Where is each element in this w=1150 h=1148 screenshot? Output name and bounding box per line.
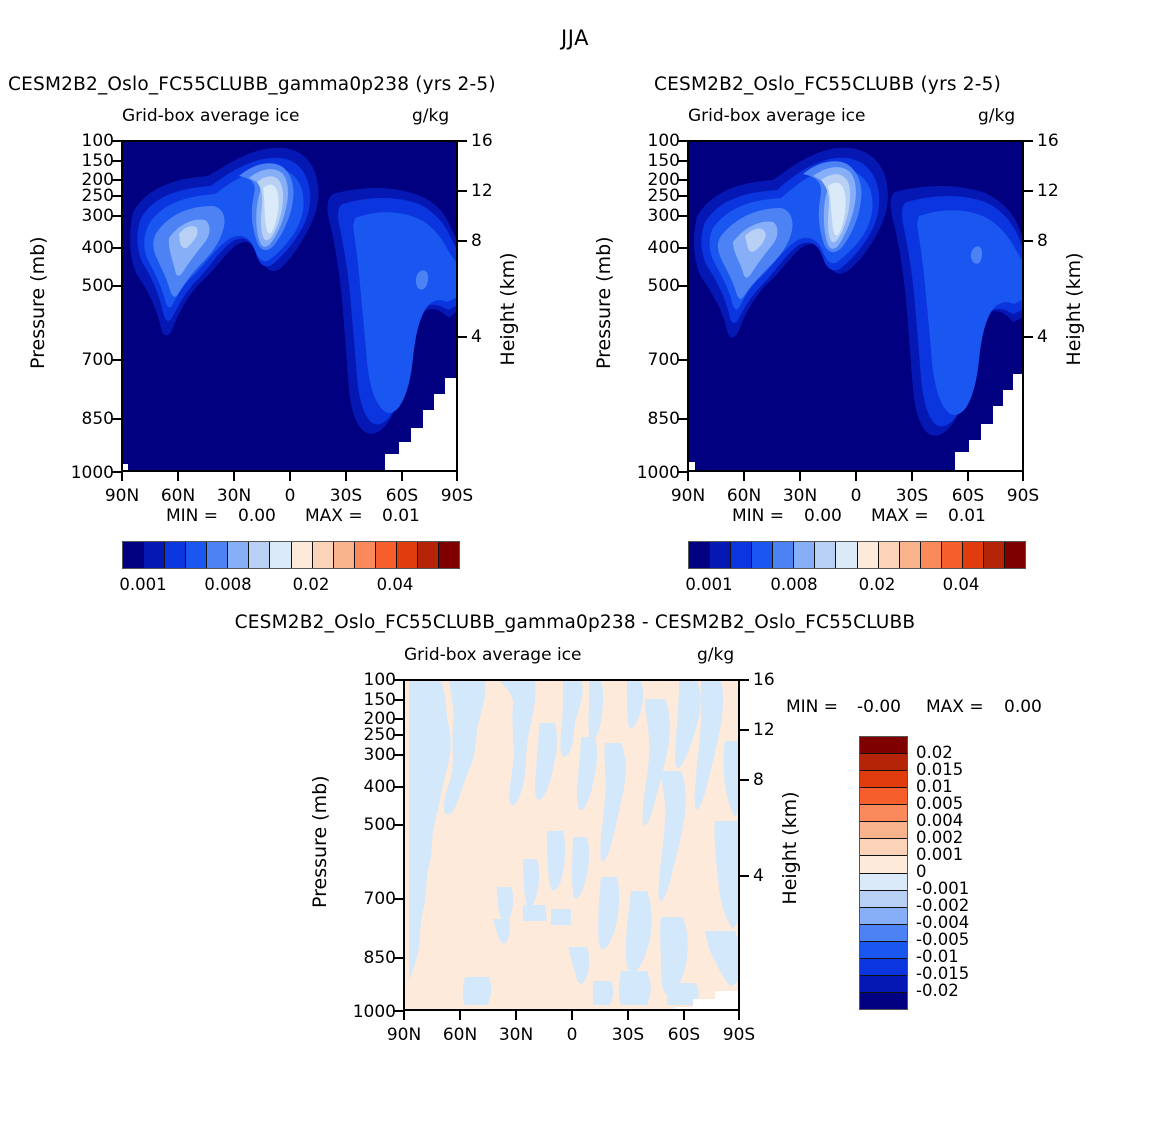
colorbar-swatch-5 [228, 542, 249, 568]
colorbar-swatch-10 [334, 542, 355, 568]
colorbar-diff-swatch-9 [860, 891, 907, 908]
colorbar-swatch-15 [439, 542, 459, 568]
xtick-diff-30S: 30S [597, 1025, 659, 1045]
xtickmark [683, 1011, 685, 1020]
cbar-left-label-2: 0.02 [283, 575, 339, 594]
xtick-diff-90S: 90S [708, 1025, 770, 1045]
xtickmark [515, 1011, 517, 1020]
y2tick-diff-8: 8 [753, 770, 764, 790]
ytick-right-250: 250 [624, 186, 680, 206]
y2tickmark [740, 875, 749, 877]
xtick-right-60S: 60S [937, 486, 999, 506]
colorbar-swatch-9 [313, 542, 334, 568]
colorbar-swatch-2 [165, 542, 186, 568]
ytickmark [394, 1010, 403, 1012]
ytick-left-300: 300 [58, 206, 114, 226]
ytick-diff-250: 250 [340, 725, 396, 745]
contour-plot-left[interactable] [121, 140, 458, 472]
ytickmark [394, 898, 403, 900]
xtick-right-60N: 60N [713, 486, 775, 506]
ytick-left-100: 100 [58, 131, 114, 151]
ytickmark [394, 718, 403, 720]
cbar-left-label-0: 0.001 [111, 575, 175, 594]
xtickmark [627, 1011, 629, 1020]
y2tickmark [1024, 336, 1033, 338]
colorbar-diff-swatch-10 [860, 908, 907, 925]
xtickmark [1022, 472, 1024, 481]
ytick-diff-500: 500 [340, 815, 396, 835]
ytickmark [678, 285, 687, 287]
min-label-right: MIN = [732, 506, 784, 526]
xtick-left-30S: 30S [315, 486, 377, 506]
yaxis-title-right: Pressure (mb) [593, 249, 615, 369]
ytickmark [394, 786, 403, 788]
colorbar-swatch-11 [921, 542, 942, 568]
colorbar-swatch-0 [689, 542, 710, 568]
ytickmark [112, 471, 121, 473]
ytickmark [678, 195, 687, 197]
max-value-diff: 0.00 [1004, 697, 1042, 717]
y2tickmark [1024, 190, 1033, 192]
ytickmark [394, 824, 403, 826]
ytick-left-150: 150 [58, 151, 114, 171]
y2tickmark [740, 779, 749, 781]
xtick-right-90S: 90S [992, 486, 1054, 506]
ytickmark [678, 179, 687, 181]
min-value-right: 0.00 [804, 506, 842, 526]
xtick-right-30N: 30N [769, 486, 831, 506]
panel-title-right: CESM2B2_Oslo_FC55CLUBB (yrs 2-5) [654, 74, 1001, 95]
xtickmark [687, 472, 689, 481]
y2tick-right-8: 8 [1037, 231, 1048, 251]
xtick-left-0: 0 [259, 486, 321, 506]
colorbar-diff-swatch-5 [860, 822, 907, 839]
colorbar-swatch-11 [355, 542, 376, 568]
xtick-right-90N: 90N [657, 486, 719, 506]
y2axis-title-diff: Height (km) [779, 788, 801, 908]
xtick-left-90S: 90S [426, 486, 488, 506]
colorbar-swatch-10 [900, 542, 921, 568]
colorbar-diff-swatch-3 [860, 788, 907, 805]
colorbar-diff-swatch-6 [860, 839, 907, 856]
ytick-left-850: 850 [58, 409, 114, 429]
colorbar-swatch-9 [879, 542, 900, 568]
colorbar-diff-swatch-12 [860, 942, 907, 959]
y2tick-diff-16: 16 [753, 670, 775, 690]
cbar-left-label-1: 0.008 [196, 575, 260, 594]
colorbar-swatch-6 [815, 542, 836, 568]
ytickmark [112, 418, 121, 420]
ytick-right-300: 300 [624, 206, 680, 226]
colorbar-diff-swatch-8 [860, 874, 907, 891]
yaxis-title-left: Pressure (mb) [27, 249, 49, 369]
ytick-right-1000: 1000 [614, 463, 680, 483]
ytickmark [678, 418, 687, 420]
xtickmark [345, 472, 347, 481]
xtick-diff-60S: 60S [653, 1025, 715, 1045]
ytickmark [394, 754, 403, 756]
ytick-left-1000: 1000 [48, 463, 114, 483]
xtick-diff-30N: 30N [485, 1025, 547, 1045]
colorbar-swatch-4 [207, 542, 228, 568]
max-label-right: MAX = [871, 506, 929, 526]
xtickmark [456, 472, 458, 481]
xtickmark [401, 472, 403, 481]
ytick-right-700: 700 [624, 350, 680, 370]
min-label-left: MIN = [166, 506, 218, 526]
colorbar-swatch-14 [418, 542, 439, 568]
xtickmark [799, 472, 801, 481]
colorbar-swatch-14 [984, 542, 1005, 568]
ytickmark [394, 699, 403, 701]
ytick-left-250: 250 [58, 186, 114, 206]
colorbar-swatch-15 [1005, 542, 1025, 568]
ytick-left-400: 400 [58, 238, 114, 258]
ytickmark [112, 247, 121, 249]
ytick-diff-850: 850 [340, 948, 396, 968]
colorbar-diff[interactable] [859, 736, 908, 1010]
xtickmark [743, 472, 745, 481]
colorbar-diff-swatch-11 [860, 925, 907, 942]
colorbar-diff-swatch-1 [860, 754, 907, 771]
ytick-diff-100: 100 [340, 670, 396, 690]
xtickmark [403, 1011, 405, 1020]
max-label-left: MAX = [305, 506, 363, 526]
y2tick-right-12: 12 [1037, 181, 1059, 201]
y2tick-diff-4: 4 [753, 866, 764, 886]
ytick-left-500: 500 [58, 276, 114, 296]
y2tick-left-4: 4 [471, 327, 482, 347]
colorbar-diff-swatch-7 [860, 856, 907, 873]
colorbar-left[interactable] [122, 541, 460, 569]
ytick-diff-150: 150 [340, 690, 396, 710]
xtickmark [911, 472, 913, 481]
colorbar-swatch-13 [963, 542, 984, 568]
colorbar-diff-label-14: -0.02 [916, 981, 959, 1000]
colorbar-swatch-12 [942, 542, 963, 568]
units-label-left: g/kg [412, 106, 449, 126]
max-label-diff: MAX = [926, 697, 984, 717]
ytick-right-500: 500 [624, 276, 680, 296]
xtickmark [233, 472, 235, 481]
field-label-right: Grid-box average ice [688, 106, 865, 126]
yaxis-title-diff: Pressure (mb) [309, 788, 331, 908]
ytickmark [112, 140, 121, 142]
ytick-left-700: 700 [58, 350, 114, 370]
ytickmark [678, 247, 687, 249]
season-title: JJA [0, 26, 1150, 50]
colorbar-diff-swatch-2 [860, 771, 907, 788]
colorbar-swatch-2 [731, 542, 752, 568]
colorbar-swatch-4 [773, 542, 794, 568]
y2tickmark [740, 729, 749, 731]
colorbar-swatch-8 [858, 542, 879, 568]
ytickmark [678, 215, 687, 217]
max-value-right: 0.01 [948, 506, 986, 526]
cbar-right-label-2: 0.02 [849, 575, 905, 594]
xtick-diff-0: 0 [541, 1025, 603, 1045]
panel-title-diff: CESM2B2_Oslo_FC55CLUBB_gamma0p238 - CESM… [0, 612, 1150, 633]
y2tickmark [458, 240, 467, 242]
xtickmark [121, 472, 123, 481]
y2tickmark [1024, 240, 1033, 242]
ytickmark [112, 285, 121, 287]
units-label-diff: g/kg [697, 645, 734, 665]
cbar-right-label-3: 0.04 [933, 575, 989, 594]
ytick-diff-300: 300 [340, 745, 396, 765]
y2tickmark [740, 679, 749, 681]
min-value-left: 0.00 [238, 506, 276, 526]
xtickmark [571, 1011, 573, 1020]
xtickmark [855, 472, 857, 481]
panel-title-left: CESM2B2_Oslo_FC55CLUBB_gamma0p238 (yrs 2… [8, 74, 496, 95]
colorbar-diff-swatch-15 [860, 993, 907, 1009]
xtick-left-60N: 60N [147, 486, 209, 506]
y2tickmark [458, 336, 467, 338]
colorbar-swatch-3 [186, 542, 207, 568]
ytickmark [678, 471, 687, 473]
colorbar-swatch-1 [710, 542, 731, 568]
colorbar-diff-swatch-0 [860, 737, 907, 754]
y2tick-right-16: 16 [1037, 131, 1059, 151]
colorbar-diff-swatch-13 [860, 959, 907, 976]
ytickmark [112, 195, 121, 197]
ytick-right-850: 850 [624, 409, 680, 429]
colorbar-diff-swatch-4 [860, 805, 907, 822]
colorbar-swatch-3 [752, 542, 773, 568]
y2tick-left-12: 12 [471, 181, 493, 201]
y2tick-diff-12: 12 [753, 720, 775, 740]
colorbar-swatch-7 [270, 542, 291, 568]
y2tick-right-4: 4 [1037, 327, 1048, 347]
contour-plot-right[interactable] [687, 140, 1024, 472]
field-label-left: Grid-box average ice [122, 106, 299, 126]
units-label-right: g/kg [978, 106, 1015, 126]
xtickmark [459, 1011, 461, 1020]
colorbar-swatch-13 [397, 542, 418, 568]
y2axis-title-left: Height (km) [497, 249, 519, 369]
xtickmark [738, 1011, 740, 1020]
y2tickmark [458, 140, 467, 142]
ytick-right-150: 150 [624, 151, 680, 171]
ytick-right-400: 400 [624, 238, 680, 258]
max-value-left: 0.01 [382, 506, 420, 526]
ytickmark [678, 359, 687, 361]
xtick-left-90N: 90N [91, 486, 153, 506]
contour-plot-diff[interactable] [403, 679, 740, 1011]
xtick-right-0: 0 [825, 486, 887, 506]
xtickmark [177, 472, 179, 481]
ytick-diff-700: 700 [340, 889, 396, 909]
xtick-diff-90N: 90N [373, 1025, 435, 1045]
ytick-right-100: 100 [624, 131, 680, 151]
ytickmark [112, 160, 121, 162]
colorbar-swatch-12 [376, 542, 397, 568]
ytickmark [394, 679, 403, 681]
colorbar-diff-swatch-14 [860, 976, 907, 993]
colorbar-swatch-8 [292, 542, 313, 568]
y2tick-left-8: 8 [471, 231, 482, 251]
min-value-diff: -0.00 [857, 697, 901, 717]
ytickmark [678, 160, 687, 162]
colorbar-swatch-7 [836, 542, 857, 568]
xtick-diff-60N: 60N [429, 1025, 491, 1045]
ytick-diff-1000: 1000 [330, 1002, 396, 1022]
y2tick-left-16: 16 [471, 131, 493, 151]
ytickmark [112, 179, 121, 181]
min-label-diff: MIN = [786, 697, 838, 717]
y2axis-title-right: Height (km) [1063, 249, 1085, 369]
xtick-right-30S: 30S [881, 486, 943, 506]
ytickmark [112, 215, 121, 217]
cbar-left-label-3: 0.04 [367, 575, 423, 594]
xtickmark [967, 472, 969, 481]
ytickmark [678, 140, 687, 142]
y2tickmark [1024, 140, 1033, 142]
colorbar-swatch-0 [123, 542, 144, 568]
ytickmark [394, 957, 403, 959]
colorbar-swatch-1 [144, 542, 165, 568]
ytickmark [112, 359, 121, 361]
cbar-right-label-0: 0.001 [677, 575, 741, 594]
cbar-right-label-1: 0.008 [762, 575, 826, 594]
ytickmark [394, 734, 403, 736]
ytick-diff-400: 400 [340, 777, 396, 797]
colorbar-swatch-6 [249, 542, 270, 568]
colorbar-swatch-5 [794, 542, 815, 568]
xtickmark [289, 472, 291, 481]
xtick-left-30N: 30N [203, 486, 265, 506]
xtick-left-60S: 60S [371, 486, 433, 506]
field-label-diff: Grid-box average ice [404, 645, 581, 665]
colorbar-right[interactable] [688, 541, 1026, 569]
y2tickmark [458, 190, 467, 192]
